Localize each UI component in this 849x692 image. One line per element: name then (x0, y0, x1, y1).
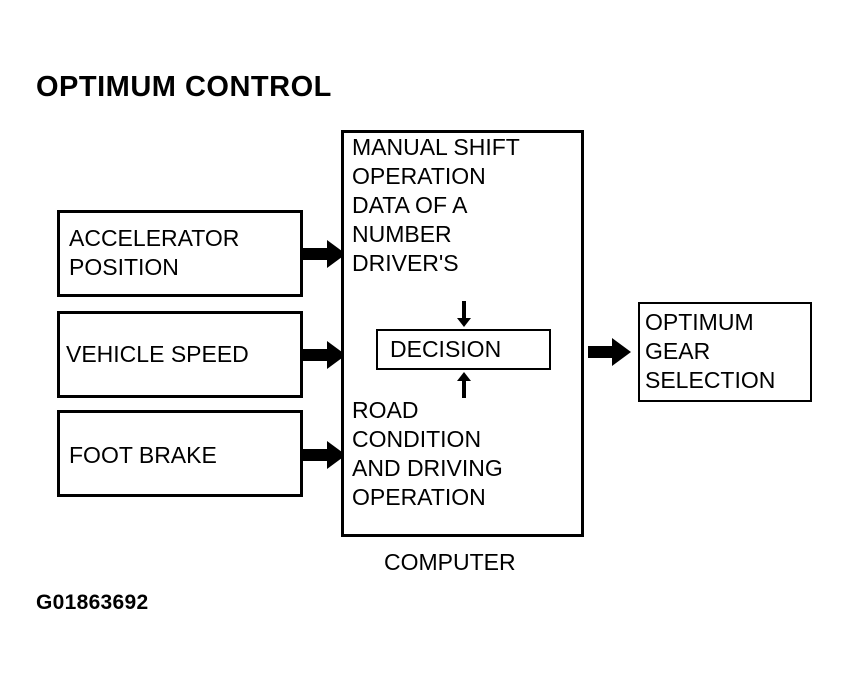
diagram-canvas: OPTIMUM CONTROL ACCELERATOR POSITION VEH… (0, 0, 849, 692)
computer-caption: COMPUTER (384, 548, 516, 577)
arrow-up-icon-to-decision (456, 372, 472, 399)
computer-top-text: MANUAL SHIFT OPERATION DATA OF A NUMBER … (352, 133, 520, 278)
arrow-down-icon-to-decision (456, 301, 472, 328)
input-label-vehicle-speed: VEHICLE SPEED (66, 340, 249, 369)
output-label: OPTIMUM GEAR SELECTION (645, 308, 775, 395)
page-title: OPTIMUM CONTROL (36, 73, 332, 102)
computer-bottom-text: ROAD CONDITION AND DRIVING OPERATION (352, 396, 503, 512)
figure-id-label: G01863692 (36, 592, 148, 613)
input-label-foot-brake: FOOT BRAKE (69, 441, 217, 470)
input-label-accelerator-position: ACCELERATOR POSITION (69, 224, 239, 282)
decision-label: DECISION (390, 335, 501, 364)
arrow-right-icon-computer-to-output (588, 337, 632, 367)
